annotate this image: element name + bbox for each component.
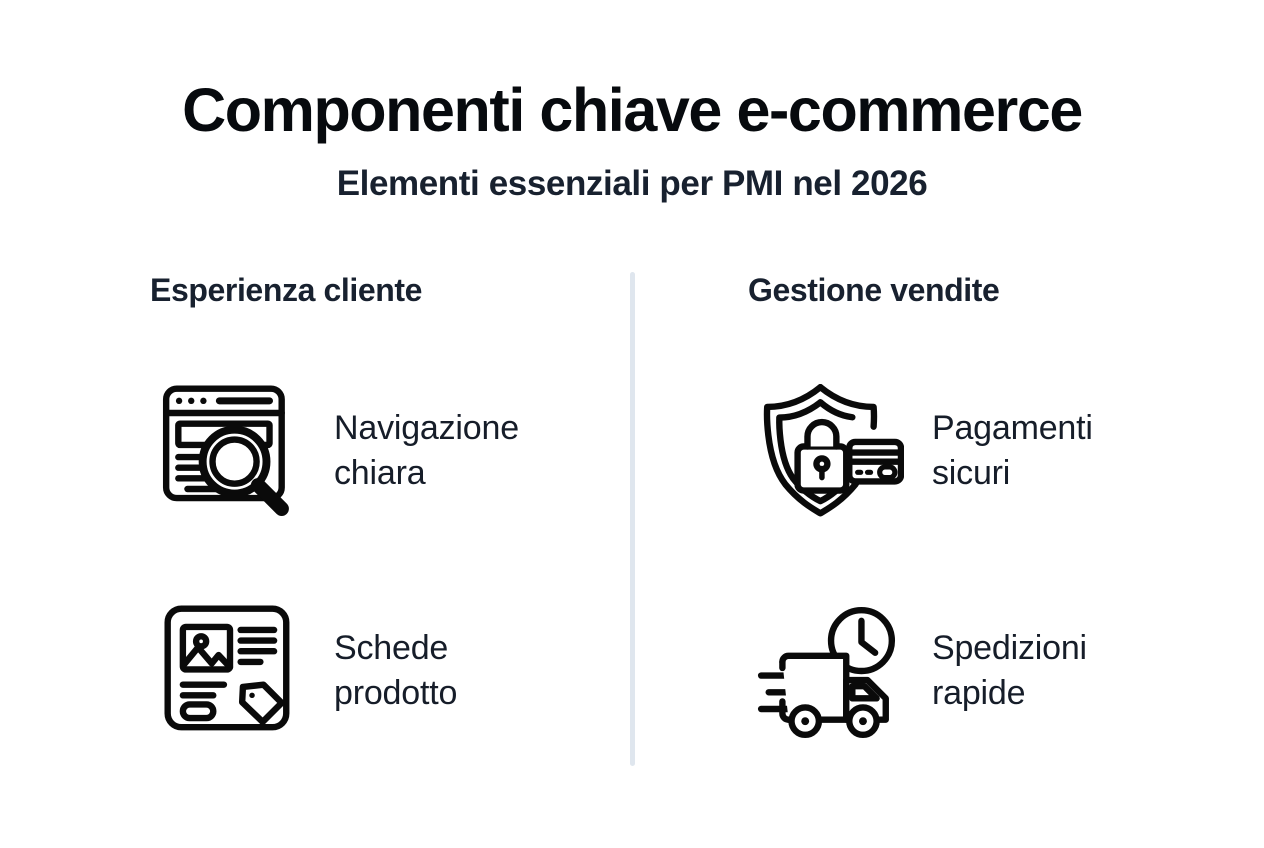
- feature-spedizioni-rapide: Spedizioni rapide: [748, 591, 1228, 751]
- header: Componenti chiave e-commerce Elementi es…: [0, 78, 1264, 204]
- feature-navigazione-chiara: Navigazione chiara: [150, 371, 630, 531]
- column-heading-customer-experience: Esperienza cliente: [150, 272, 630, 309]
- feature-pagamenti-sicuri: Pagamenti sicuri: [748, 371, 1228, 531]
- feature-label-navigazione-chiara: Navigazione chiara: [334, 406, 574, 496]
- columns-container: Esperienza cliente: [0, 272, 1264, 772]
- column-customer-experience: Esperienza cliente: [150, 272, 630, 751]
- product-card-icon: [150, 591, 310, 751]
- shield-lock-card-icon: [748, 371, 908, 531]
- feature-label-pagamenti-sicuri: Pagamenti sicuri: [932, 406, 1172, 496]
- delivery-truck-clock-icon: [748, 591, 908, 751]
- page-subtitle: Elementi essenziali per PMI nel 2026: [0, 164, 1264, 204]
- feature-schede-prodotto: Schede prodotto: [150, 591, 630, 751]
- feature-label-spedizioni-rapide: Spedizioni rapide: [932, 626, 1172, 716]
- browser-search-icon: [150, 371, 310, 531]
- column-divider: [630, 272, 635, 766]
- infographic-page: Componenti chiave e-commerce Elementi es…: [0, 0, 1264, 848]
- column-sales-management: Gestione vendite: [748, 272, 1228, 751]
- column-heading-sales-management: Gestione vendite: [748, 272, 1228, 309]
- page-title: Componenti chiave e-commerce: [0, 78, 1264, 144]
- feature-label-schede-prodotto: Schede prodotto: [334, 626, 574, 716]
